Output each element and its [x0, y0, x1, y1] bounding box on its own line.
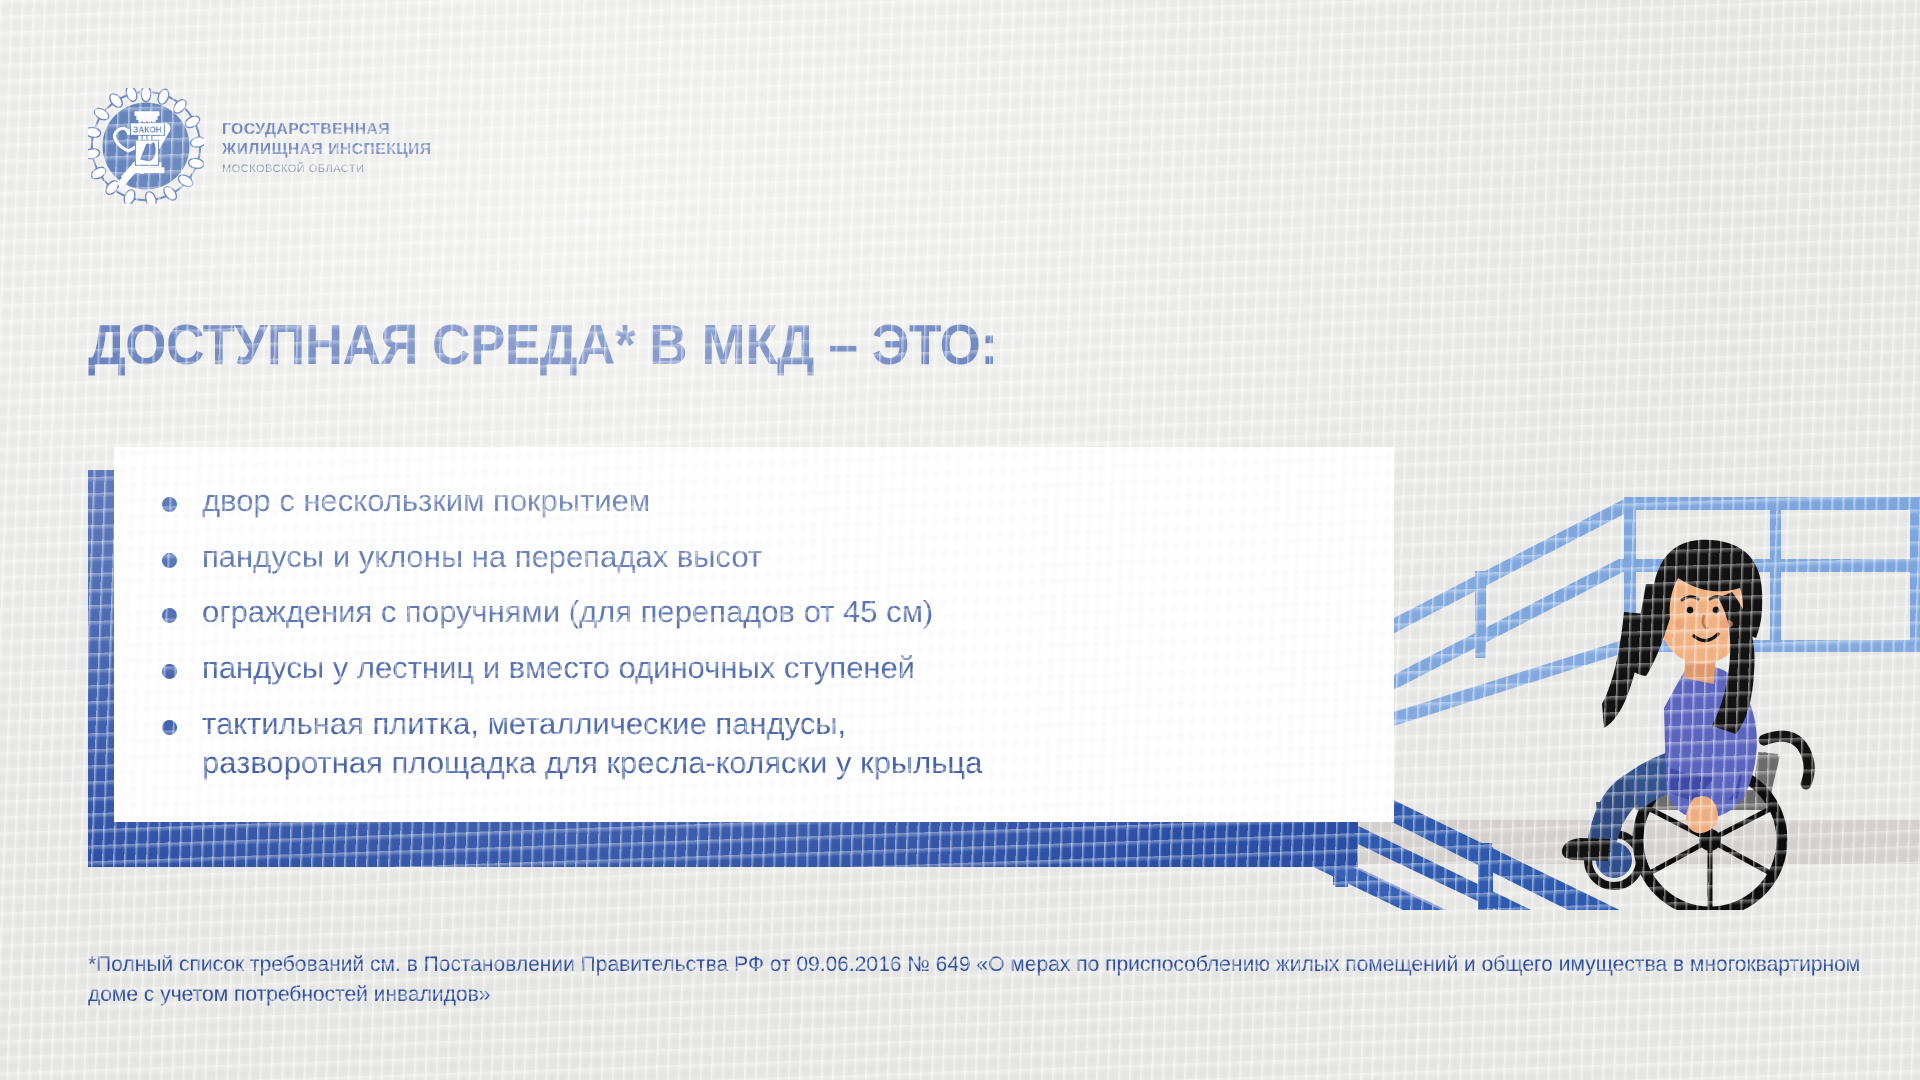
organization-logo: ЗАКОН ГОСУДАРСТВЕННАЯ ЖИЛИЩНАЯ ИНСПЕКЦИЯ…: [88, 88, 432, 204]
bullet-dot-icon: [162, 720, 177, 735]
bullet-dot-icon: [162, 608, 177, 623]
content-card: двор с нескользким покрытием пандусы и у…: [88, 447, 1368, 867]
emblem-inscription: ЗАКОН: [133, 124, 162, 134]
requirements-list: двор с нескользким покрытием пандусы и у…: [162, 481, 1370, 783]
card-surface: двор с нескользким покрытием пандусы и у…: [114, 447, 1394, 822]
eye-right: [1713, 607, 1720, 614]
list-item-label: ограждения с поручнями (для перепадов от…: [202, 592, 933, 632]
list-item: пандусы у лестниц и вместо одиночных сту…: [162, 648, 1370, 688]
list-item: двор с нескользким покрытием: [162, 481, 1370, 521]
logo-text-block: ГОСУДАРСТВЕННАЯ ЖИЛИЩНАЯ ИНСПЕКЦИЯ МОСКО…: [222, 114, 432, 177]
footnote-text: *Полный список требований см. в Постанов…: [88, 950, 1868, 1010]
gzhi-emblem-icon: ЗАКОН: [88, 88, 204, 204]
list-item: тактильная плитка, металлические пандусы…: [162, 704, 1370, 783]
list-item-label: двор с нескользким покрытием: [202, 481, 650, 521]
list-item-label: пандусы у лестниц и вместо одиночных сту…: [202, 648, 915, 688]
shoe: [1562, 838, 1610, 861]
page-title: ДОСТУПНАЯ СРЕДА* В МКД – ЭТО:: [88, 312, 998, 378]
list-item-label: тактильная плитка, металлические пандусы…: [202, 704, 982, 783]
bullet-dot-icon: [162, 497, 177, 512]
logo-line-3: МОСКОВСКОЙ ОБЛАСТИ: [222, 162, 432, 177]
list-item-label: пандусы и уклоны на перепадах высот: [202, 537, 762, 577]
list-item: пандусы и уклоны на перепадах высот: [162, 537, 1370, 577]
list-item: ограждения с поручнями (для перепадов от…: [162, 592, 1370, 632]
bullet-dot-icon: [162, 664, 177, 679]
eye-left: [1687, 607, 1694, 614]
slide-canvas: ЗАКОН ГОСУДАРСТВЕННАЯ ЖИЛИЩНАЯ ИНСПЕКЦИЯ…: [0, 0, 1920, 1080]
bullet-dot-icon: [162, 553, 177, 568]
logo-line-1: ГОСУДАРСТВЕННАЯ: [222, 120, 432, 140]
logo-line-2: ЖИЛИЩНАЯ ИНСПЕКЦИЯ: [222, 140, 432, 160]
